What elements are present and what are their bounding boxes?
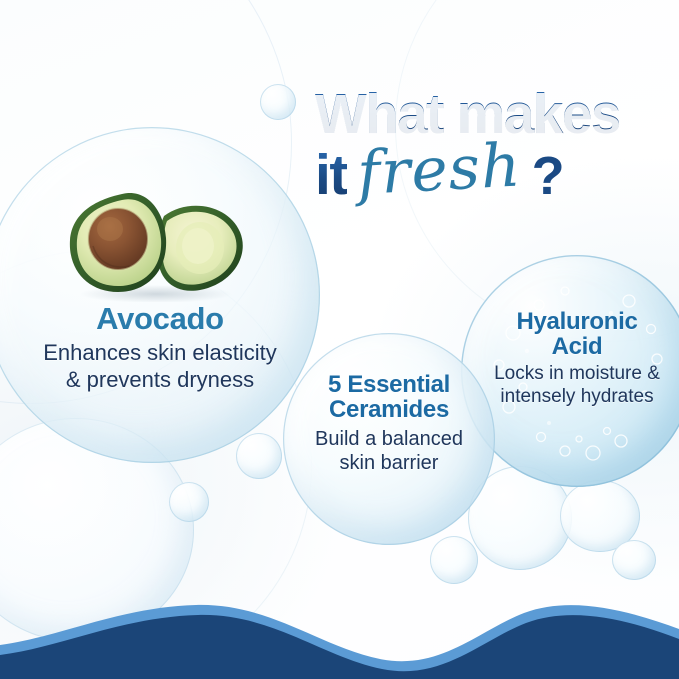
headline-line-2: it fresh ? xyxy=(315,144,565,204)
ingredient-block-avocado: Avocado Enhances skin elasticity & preve… xyxy=(10,303,310,393)
decorative-bubble xyxy=(260,84,296,120)
decorative-bubble xyxy=(236,433,282,479)
headline: What makes it fresh ? xyxy=(300,86,672,206)
ingredient-title-line: 5 Essential xyxy=(283,373,495,398)
ingredient-block-hyaluronic-acid: Hyaluronic Acid Locks in moisture & inte… xyxy=(468,310,679,409)
headline-question-mark: ? xyxy=(532,149,565,203)
ingredient-title-line: Acid xyxy=(468,335,679,360)
ingredient-description-hyaluronic-acid: Locks in moisture & intensely hydrates xyxy=(468,363,679,409)
ingredient-description-line: Build a balanced xyxy=(283,427,495,451)
ingredient-description-line: intensely hydrates xyxy=(468,386,679,409)
ingredient-description-avocado: Enhances skin elasticity & prevents dryn… xyxy=(10,340,310,393)
ingredient-title-hyaluronic-acid: Hyaluronic Acid xyxy=(468,310,679,360)
ingredient-title-avocado: Avocado xyxy=(10,303,310,335)
decorative-bubble xyxy=(560,480,640,552)
ingredient-description-line: Enhances skin elasticity xyxy=(10,340,310,366)
ingredient-description-line: Locks in moisture & xyxy=(468,363,679,386)
ingredient-title-line: Hyaluronic xyxy=(468,310,679,335)
decorative-bubble xyxy=(612,540,656,580)
ingredient-description-line: skin barrier xyxy=(283,451,495,475)
decorative-bubble xyxy=(430,536,478,584)
ingredient-title-ceramides: 5 Essential Ceramides xyxy=(283,373,495,423)
ingredient-block-ceramides: 5 Essential Ceramides Build a balanced s… xyxy=(283,373,495,475)
bottom-wave-decoration xyxy=(0,589,679,679)
headline-word-it: it xyxy=(315,147,347,204)
infographic-canvas: What makes it fresh ? Avocado Enhances s… xyxy=(0,0,679,679)
ingredient-description-line: & prevents dryness xyxy=(10,367,310,393)
decorative-bubble xyxy=(468,466,572,570)
ingredient-description-ceramides: Build a balanced skin barrier xyxy=(283,427,495,475)
decorative-bubble xyxy=(169,482,209,522)
headline-word-fresh: fresh xyxy=(356,135,523,204)
ingredient-title-line: Ceramides xyxy=(283,398,495,423)
avocado-halves-image xyxy=(60,176,250,302)
